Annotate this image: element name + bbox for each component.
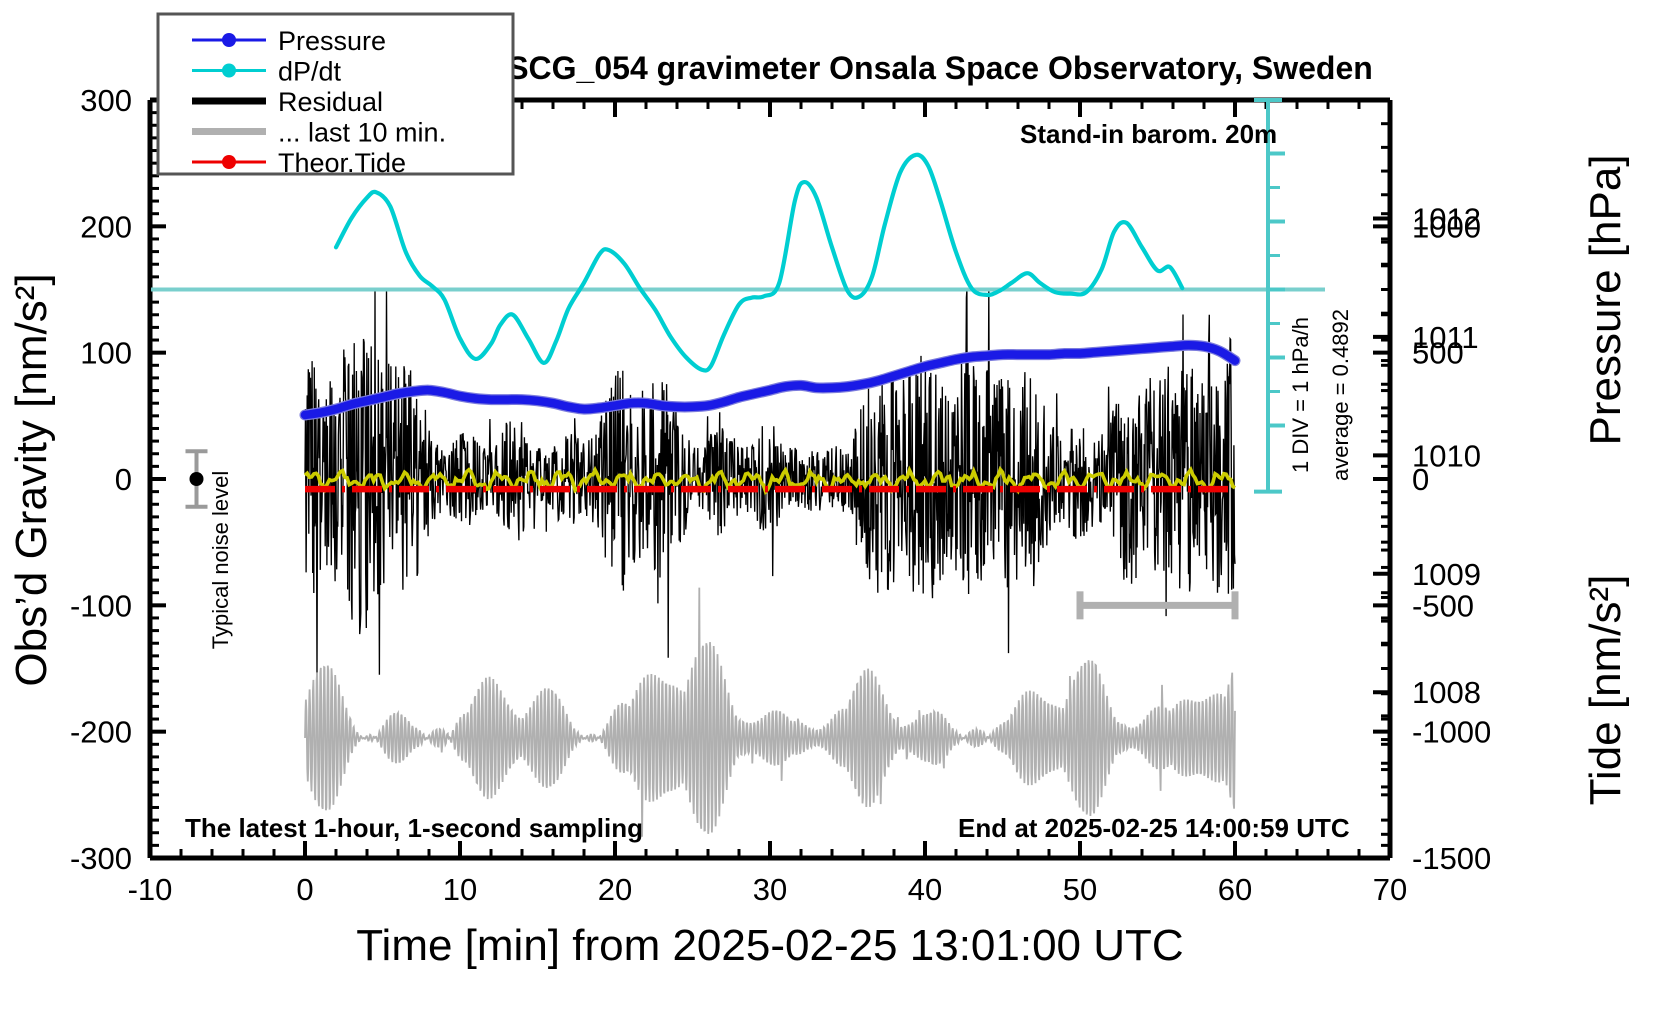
- right-tide-tick-label: 500: [1412, 336, 1464, 371]
- right-tide-axis-title: Tide [nm/s²]: [1581, 575, 1630, 806]
- left-axis-title: Obs’d Gravity [nm/s²]: [7, 273, 56, 686]
- legend-marker-2: [222, 64, 236, 78]
- bottom-tick-label: 10: [443, 872, 477, 907]
- end-time-note: End at 2025-02-25 14:00:59 UTC: [958, 813, 1350, 843]
- right-pressure-tick-label: 1009: [1412, 557, 1481, 592]
- right-pressure-tick-label: 1008: [1412, 675, 1481, 710]
- bottom-tick-label: 20: [598, 872, 632, 907]
- legend[interactable]: PressuredP/dtResidual... last 10 min.The…: [158, 14, 513, 178]
- bottom-tick-label: 60: [1218, 872, 1252, 907]
- left-tick-label: 0: [115, 462, 132, 497]
- bottom-tick-label: 40: [908, 872, 942, 907]
- bottom-tick-label: -10: [128, 872, 173, 907]
- right-tide-tick-label: -1500: [1412, 841, 1491, 876]
- right-tide-tick-label: -500: [1412, 588, 1474, 623]
- left-tick-label: 300: [80, 83, 132, 118]
- right-pressure-axis-title: Pressure [hPa]: [1581, 154, 1630, 445]
- legend-label-3[interactable]: Residual: [278, 87, 383, 117]
- sampling-note: The latest 1-hour, 1-second sampling: [185, 813, 643, 843]
- dpdt-scale: 1 DIV = 1 hPa/h: [1288, 317, 1313, 473]
- legend-marker-1: [222, 33, 236, 47]
- dpdt-average: average = 0.4892: [1328, 309, 1353, 481]
- bottom-tick-label: 0: [296, 872, 313, 907]
- gravimeter-monitoring-chart: -300-200-1000100200300 -1001020304050607…: [0, 0, 1660, 1020]
- bottom-tick-label: 70: [1373, 872, 1407, 907]
- bottom-tick-label: 50: [1063, 872, 1097, 907]
- right-tide-tick-label: -1000: [1412, 715, 1491, 750]
- stand-in-barometer: Stand-in barom. 20m: [1020, 119, 1277, 149]
- noise-errorbar-point: [190, 472, 204, 486]
- legend-label-2[interactable]: dP/dt: [278, 57, 342, 87]
- left-tick-label: 200: [80, 209, 132, 244]
- chart-title: SCG_054 gravimeter Onsala Space Observat…: [507, 50, 1373, 86]
- right-tide-tick-label: 0: [1412, 462, 1429, 497]
- left-tick-label: -100: [70, 588, 132, 623]
- bottom-tick-label: 30: [753, 872, 787, 907]
- legend-marker-5: [222, 155, 236, 169]
- chart-root: -300-200-1000100200300 -1001020304050607…: [0, 0, 1660, 1020]
- right-tide-tick-label: 1000: [1412, 209, 1481, 244]
- legend-label-1[interactable]: Pressure: [278, 26, 386, 56]
- legend-label-4[interactable]: ... last 10 min.: [278, 118, 446, 148]
- x-axis-title: Time [min] from 2025-02-25 13:01:00 UTC: [356, 921, 1183, 970]
- left-tick-label: -300: [70, 841, 132, 876]
- legend-label-5[interactable]: Theor.Tide: [278, 148, 406, 178]
- left-tick-label: -200: [70, 715, 132, 750]
- left-tick-label: 100: [80, 336, 132, 371]
- typical-noise-level: Typical noise level: [208, 471, 233, 650]
